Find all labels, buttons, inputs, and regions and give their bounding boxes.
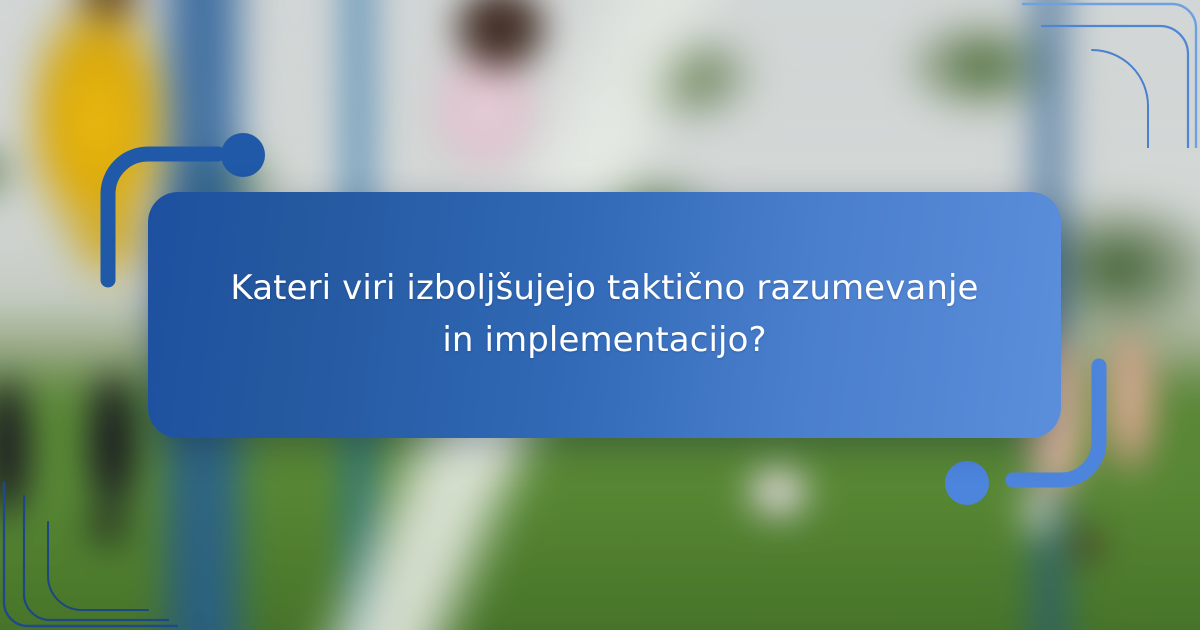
question-card-graphic: Kateri viri izboljšujejo taktično razume… [0, 0, 1200, 630]
question-card: Kateri viri izboljšujejo taktično razume… [148, 192, 1061, 438]
question-text: Kateri viri izboljšujejo taktično razume… [210, 263, 999, 366]
dot-top-left-icon [221, 133, 265, 177]
dot-bottom-right-icon [945, 461, 989, 505]
